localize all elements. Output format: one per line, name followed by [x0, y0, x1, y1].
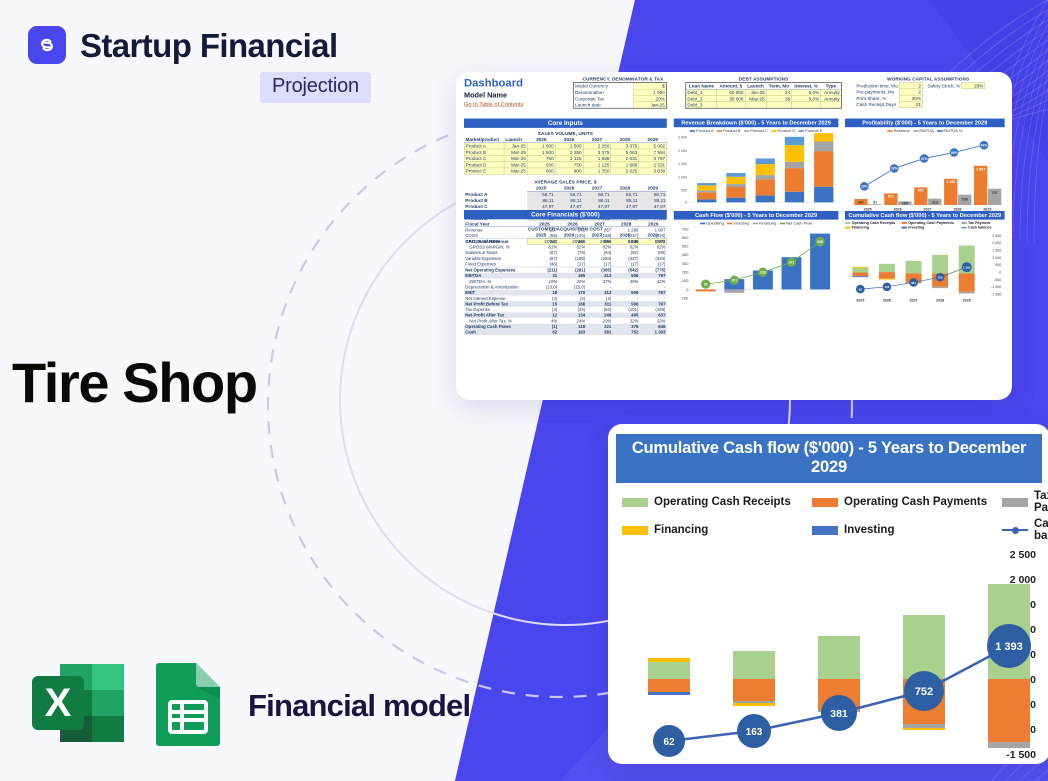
bar-2025	[697, 183, 716, 202]
revenue-breakdown-title: Revenue Breakdown ($'000) - 5 Years to D…	[674, 119, 839, 128]
cash-flow-chart: 700 600 500 400 300 200 100 0 -100	[674, 226, 839, 309]
sales-volume-table: Market/product Launch 20252026 20272028 …	[464, 137, 667, 175]
legend-item: Operating Cash Payments	[902, 221, 962, 225]
svg-text:-500: -500	[994, 278, 1001, 282]
svg-text:500: 500	[995, 263, 1001, 267]
brand-header: Startup Financial	[28, 26, 338, 64]
core-financials-table: Fiscal Year 20252026 20272028 2029 Reven…	[464, 221, 667, 335]
svg-text:752: 752	[938, 275, 943, 279]
svg-text:2028: 2028	[936, 298, 944, 302]
cumulative-small-title: Cumulative Cash flow ($'000) - 5 Years t…	[845, 211, 1005, 220]
datalabel: 62	[663, 737, 675, 748]
legend-item-investing: Investing	[812, 518, 1002, 542]
cumulative-small-chart: 2 500 2 000 1 500 1 000 500 0 -500 -1 00…	[845, 230, 1005, 308]
svg-text:101: 101	[732, 278, 738, 282]
page-title: Tire Shop	[12, 355, 257, 411]
svg-text:297: 297	[858, 200, 864, 204]
svg-text:0: 0	[685, 201, 687, 205]
cumulative-chart-title: Cumulative Cash flow ($'000) - 5 Years t…	[616, 434, 1042, 483]
svg-text:0: 0	[686, 287, 689, 292]
svg-text:100: 100	[682, 278, 689, 283]
cumulative-chart-legend: Operating Cash Receipts Operating Cash P…	[616, 483, 1042, 545]
poster-canvas: Startup Financial Projection Tire Shop X	[0, 0, 1048, 781]
svg-text:506: 506	[962, 198, 968, 202]
cash-flow-title: Cash Flow ($'000) - 5 Years to December …	[674, 211, 839, 220]
cash-flow-bars	[696, 234, 830, 293]
svg-text:371: 371	[789, 261, 795, 265]
svg-text:700: 700	[682, 226, 689, 231]
bar-2029	[814, 133, 833, 202]
debt-table: Loan NameAmount, $ LaunchTerm, Mo Intere…	[685, 82, 841, 108]
svg-text:32%: 32%	[891, 167, 898, 171]
svg-text:2029: 2029	[963, 298, 971, 302]
bar-2026	[726, 173, 745, 202]
svg-text:2026: 2026	[883, 298, 891, 302]
datalabel: 1 393	[995, 641, 1023, 653]
datalabel: 752	[915, 686, 933, 698]
wc-table: Production time, Mo2 Safety Stock, %20% …	[855, 82, 985, 108]
svg-text:1 500: 1 500	[992, 249, 1001, 253]
svg-text:797: 797	[992, 191, 998, 195]
svg-text:600: 600	[682, 235, 689, 240]
ebitda-pct-markers: 10% 32% 37% 39% 42%	[860, 141, 988, 191]
svg-text:10%: 10%	[861, 185, 868, 189]
wc-section-caption: WORKING CAPITAL ASSUMPTIONS	[855, 76, 1001, 81]
svg-text:185: 185	[902, 201, 908, 205]
google-sheets-icon	[152, 660, 224, 751]
legend-item: Tax Payment	[961, 221, 1004, 225]
svg-text:300: 300	[682, 261, 689, 266]
profitability-title: Profitability ($'000) - 5 Years to Decem…	[845, 119, 1005, 128]
bar-group-2025	[648, 658, 690, 695]
ytick: 0	[1030, 674, 1036, 686]
ytick: -1 500	[1006, 749, 1036, 761]
table-row: Product EMar-256009001 3502 0253 038	[464, 168, 666, 174]
svg-text:-1 000: -1 000	[991, 285, 1001, 289]
svg-text:1 000: 1 000	[678, 175, 687, 179]
cumulative-cashflow-chart: 2 500 2 000 1 500 1 000 500 0 -500 -1 00…	[616, 545, 1042, 764]
table-row: Debt_3	[686, 102, 842, 108]
svg-text:39%: 39%	[951, 151, 958, 155]
svg-text:2 500: 2 500	[992, 234, 1001, 238]
footer-label: Financial model	[248, 688, 470, 724]
svg-text:1 500: 1 500	[678, 162, 687, 166]
bar-2028	[785, 137, 804, 203]
svg-text:500: 500	[681, 189, 687, 193]
legend-item: Operating Cash Receipts	[845, 221, 902, 225]
table-row: Loan NameAmount, $ LaunchTerm, Mo Intere…	[686, 83, 842, 89]
svg-text:1 393: 1 393	[963, 266, 971, 270]
datalabel: 381	[830, 708, 848, 720]
core-financials-bar: Core Financials ($'000)	[464, 210, 667, 219]
model-name-label: Model Name	[464, 91, 523, 100]
table-row: Launch dateJan-25	[573, 102, 666, 108]
svg-text:42%: 42%	[981, 143, 988, 147]
svg-text:500: 500	[682, 244, 689, 249]
table-row: Cash Receipt Days21	[855, 101, 985, 107]
dashboard-title: Dashboard	[464, 77, 523, 90]
cumulative-small-legend: Operating Cash Receipts Operating Cash P…	[845, 221, 1005, 230]
svg-text:1 000: 1 000	[992, 256, 1001, 260]
cumulative-cashflow-card[interactable]: Cumulative Cash flow ($'000) - 5 Years t…	[608, 424, 1048, 764]
svg-text:31: 31	[873, 200, 877, 204]
svg-text:2027: 2027	[909, 298, 917, 302]
svg-text:1 285: 1 285	[946, 180, 955, 184]
legend-item-cash-balance: Cash balance	[1002, 518, 1048, 542]
svg-text:37%: 37%	[921, 157, 928, 161]
profitability-chart: 297 571 857 1 285 1 907 31 185 313 506 7…	[845, 133, 1005, 213]
svg-text:2 000: 2 000	[992, 241, 1001, 245]
dashboard-sheet: Dashboard Model Name Go to Table of Cont…	[456, 72, 1011, 400]
debt-section-caption: DEBT ASSUMPTIONS	[685, 76, 841, 81]
legend-item-financing: Financing	[622, 518, 812, 542]
core-inputs-bar: Core Inputs	[464, 119, 667, 128]
svg-text:163: 163	[884, 285, 889, 289]
bar-group-2026	[733, 651, 775, 706]
table-row: Cash621633817521 393	[464, 329, 667, 335]
svg-text:646: 646	[817, 240, 823, 244]
svg-text:62: 62	[704, 282, 708, 286]
svg-text:857: 857	[918, 189, 924, 193]
legend-item-operating-cash-receipts: Operating Cash Receipts	[622, 490, 812, 514]
bar-2027	[756, 158, 775, 202]
svg-text:-100: -100	[680, 295, 689, 300]
legend-item-operating-cash-payments: Operating Cash Payments	[812, 490, 1002, 514]
svg-text:0: 0	[999, 270, 1001, 274]
ytick: 2 500	[1010, 549, 1036, 561]
legend-item-tax-payment: Tax Payment	[1002, 490, 1048, 514]
svg-text:313: 313	[932, 200, 938, 204]
svg-text:62: 62	[859, 287, 863, 291]
dashboard-preview-card[interactable]: Dashboard Model Name Go to Table of Cont…	[456, 72, 1012, 400]
svg-text:218: 218	[760, 270, 766, 274]
currency-table: Model Currency$ Denomination1 000 Corpor…	[573, 82, 667, 108]
svg-text:-1 500: -1 500	[991, 292, 1001, 296]
svg-text:571: 571	[888, 195, 894, 199]
brand-subtitle-badge: Projection	[260, 72, 371, 103]
brand-title: Startup Financial	[80, 29, 338, 62]
link-e-icon	[28, 26, 66, 64]
svg-text:2025: 2025	[856, 298, 864, 302]
svg-text:400: 400	[682, 252, 689, 257]
currency-section-caption: CURRENCY, DENOMINATOR & TAX	[573, 76, 673, 81]
sales-volume-caption: SALES VOLUME, UNITS	[464, 131, 667, 136]
excel-file-icon: X	[30, 660, 128, 751]
svg-text:X: X	[45, 681, 72, 725]
revenue-breakdown-chart: 2 500 2 000 1 500 1 000 500 0	[674, 133, 839, 209]
svg-text:381: 381	[911, 281, 916, 285]
table-of-contents-link[interactable]: Go to Table of Contents	[464, 101, 523, 108]
svg-text:200: 200	[682, 269, 689, 274]
formats-footer: X Financial model	[30, 660, 470, 751]
avg-price-caption: AVERAGE SALES PRICE, $	[464, 179, 667, 184]
svg-text:2 000: 2 000	[678, 149, 687, 153]
svg-text:2 500: 2 500	[678, 136, 687, 140]
datalabel: 163	[746, 727, 763, 738]
svg-text:1 907: 1 907	[976, 167, 985, 171]
